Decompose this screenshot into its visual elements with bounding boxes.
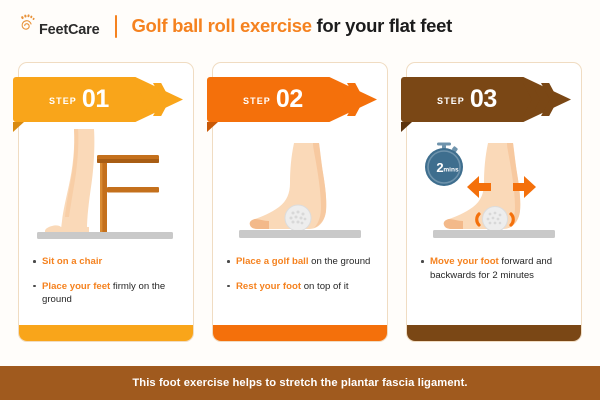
footer-text: This foot exercise helps to stretch the … bbox=[132, 377, 467, 389]
step-3-bullets: Move your foot forward and backwards for… bbox=[407, 255, 581, 282]
step-card-1: Sit on a chair Place your feet firmly on… bbox=[18, 62, 194, 342]
infographic-page: FeetCare Golf ball roll exercise for you… bbox=[0, 0, 600, 400]
step-2-banner: STEP 02 bbox=[207, 77, 383, 129]
bullet-strong: Move your foot bbox=[430, 256, 499, 267]
bullet-strong: Sit on a chair bbox=[42, 256, 102, 267]
step-3-number: 03 bbox=[470, 87, 497, 112]
page-header: FeetCare Golf ball roll exercise for you… bbox=[0, 0, 600, 52]
footprint-spiral-icon bbox=[16, 14, 38, 38]
illustration-foot-on-golf-ball bbox=[213, 129, 387, 249]
footer-banner: This foot exercise helps to stretch the … bbox=[0, 366, 600, 400]
step-2-number: 02 bbox=[276, 87, 303, 112]
bullet-strong: Place a golf ball bbox=[236, 256, 309, 267]
brand-logo: FeetCare bbox=[16, 14, 99, 38]
step-2-bullets: Place a golf ball on the ground Rest you… bbox=[213, 255, 387, 293]
list-item: Move your foot forward and backwards for… bbox=[421, 255, 567, 282]
step-card-3: 2 mins bbox=[406, 62, 582, 342]
header-divider bbox=[115, 15, 117, 38]
bullet-strong: Rest your foot bbox=[236, 281, 301, 292]
list-item: Rest your foot on top of it bbox=[227, 280, 373, 294]
illustration-foot-roll-with-timer: 2 mins bbox=[407, 129, 581, 249]
list-item: Place your feet firmly on the ground bbox=[33, 280, 179, 307]
card-2-bottom-bar bbox=[213, 325, 387, 341]
page-title-highlight: Golf ball roll exercise bbox=[131, 15, 311, 36]
page-title: Golf ball roll exercise for your flat fe… bbox=[131, 15, 452, 37]
svg-text:mins: mins bbox=[443, 167, 459, 174]
bullet-strong: Place your feet bbox=[42, 281, 110, 292]
step-3-banner: STEP 03 bbox=[401, 77, 577, 129]
step-1-label: STEP bbox=[49, 93, 77, 106]
bullet-rest: on top of it bbox=[301, 281, 348, 292]
illustration-sit-on-chair bbox=[19, 129, 193, 249]
stopwatch-icon: 2 mins bbox=[425, 143, 463, 187]
step-2-label: STEP bbox=[243, 93, 271, 106]
step-1-bullets: Sit on a chair Place your feet firmly on… bbox=[19, 255, 193, 307]
step-card-2: Place a golf ball on the ground Rest you… bbox=[212, 62, 388, 342]
step-3-label: STEP bbox=[437, 93, 465, 106]
step-1-banner: STEP 01 bbox=[13, 77, 189, 129]
card-3-bottom-bar bbox=[407, 325, 581, 341]
brand-name: FeetCare bbox=[39, 23, 99, 39]
page-title-rest: for your flat feet bbox=[312, 15, 452, 36]
list-item: Sit on a chair bbox=[33, 255, 179, 269]
list-item: Place a golf ball on the ground bbox=[227, 255, 373, 269]
card-1-bottom-bar bbox=[19, 325, 193, 341]
bullet-rest: on the ground bbox=[309, 256, 371, 267]
step-1-number: 01 bbox=[82, 87, 109, 112]
